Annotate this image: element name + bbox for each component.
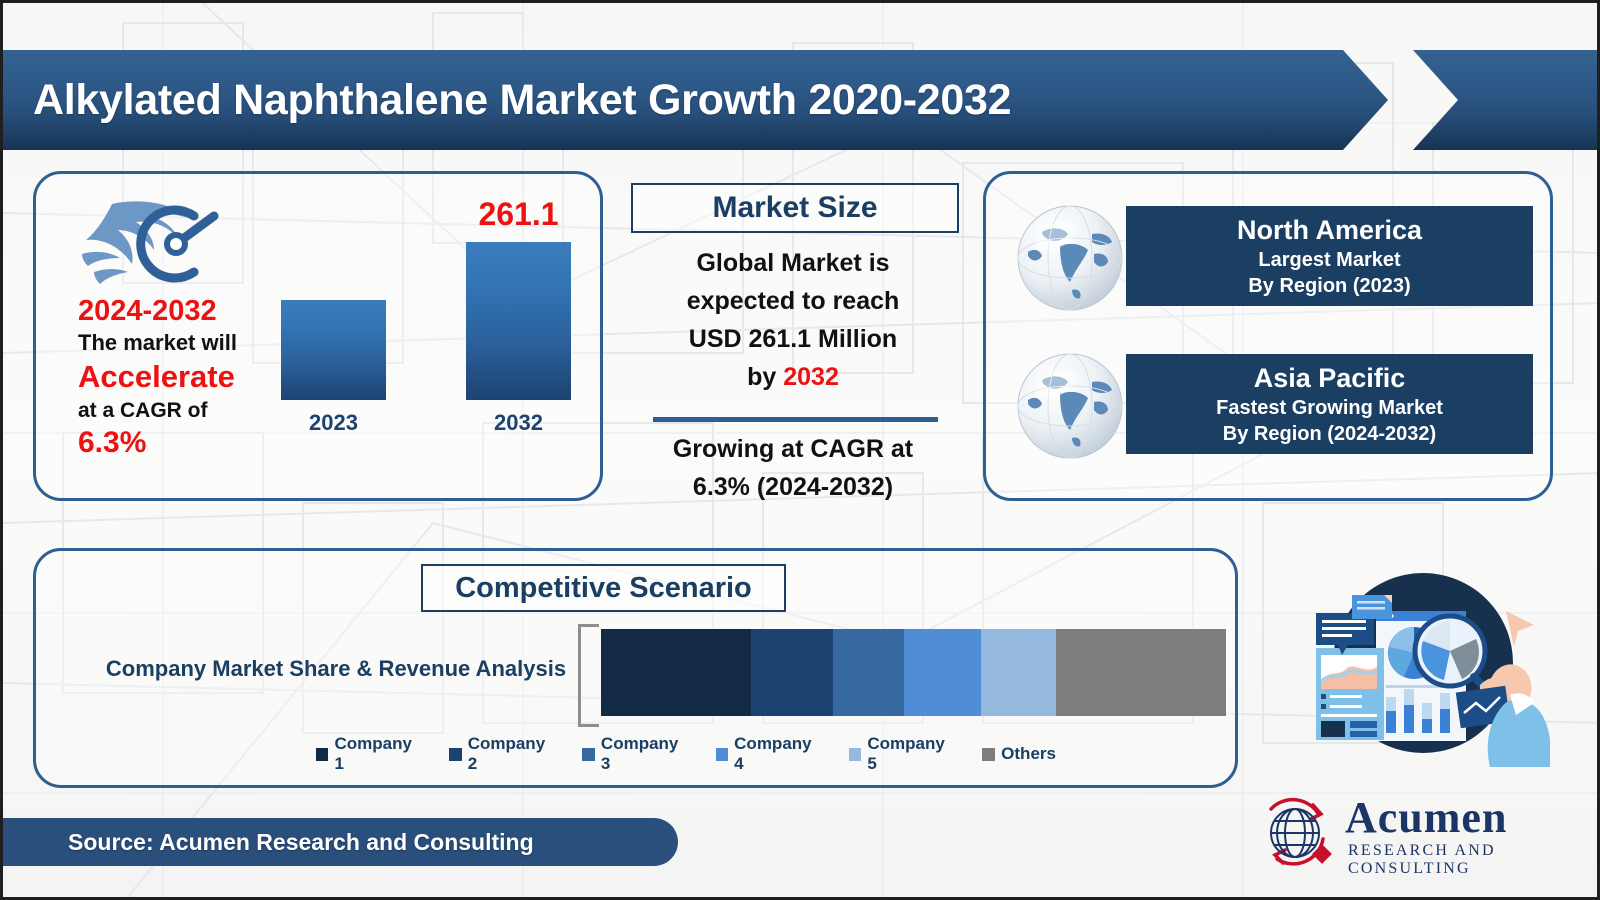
source-text: Source: Acumen Research and Consulting [68,829,534,856]
region-name: Asia Pacific [1126,362,1533,395]
growth-card: 2024-2032 The market will Accelerate at … [33,171,603,501]
legend-swatch [449,748,461,761]
legend-label: Company 2 [468,734,556,774]
legend-item: Company 4 [716,734,822,774]
region-label-box: North America Largest Market By Region (… [1126,206,1533,306]
legend-swatch [582,748,594,761]
globe-icon [1008,198,1132,322]
competitive-heading-box: Competitive Scenario [421,564,786,612]
globe-icon [1008,346,1132,470]
market-size-bar-chart: 2023 261.1 2032 [261,204,591,484]
stack-segment-2 [751,629,833,716]
legend-item: Company 2 [449,734,555,774]
legend-swatch [849,748,861,761]
axis-bracket [578,624,599,727]
region-sub1: Fastest Growing Market [1126,395,1533,421]
logo-tagline: RESEARCH AND CONSULTING [1348,842,1573,878]
region-sub1: Largest Market [1126,247,1533,273]
legend-label: Others [1001,744,1056,764]
market-size-line1: Global Market is [623,244,963,282]
region-name: North America [1126,214,1533,247]
legend-item: Company 5 [849,734,955,774]
by-label: by [747,363,776,391]
infographic-page: Alkylated Naphthalene Market Growth 2020… [0,0,1600,900]
page-title: Alkylated Naphthalene Market Growth 2020… [33,50,1011,150]
legend-swatch [316,748,328,761]
legend-swatch [716,748,728,761]
legend-label: Company 4 [734,734,822,774]
region-sub2: By Region (2023) [1126,273,1533,299]
growing-value: 6.3% (2024-2032) [623,468,963,506]
title-banner: Alkylated Naphthalene Market Growth 2020… [3,50,1600,150]
market-size-heading-box: Market Size [631,183,959,233]
legend-label: Company 3 [601,734,689,774]
legend-item: Company 3 [582,734,688,774]
bar-value-2032: 261.1 [466,196,571,233]
region-row-north-america: North America Largest Market By Region (… [1008,206,1533,316]
speedometer-acceleration-icon [76,196,226,291]
legend-item: Others [982,744,1056,764]
by-year: 2032 [783,363,839,391]
region-sub2: By Region (2024-2032) [1126,421,1533,447]
market-share-stacked-bar [601,629,1226,716]
divider [653,417,938,422]
bar-label-2023: 2023 [281,410,386,436]
regions-card: North America Largest Market By Region (… [983,171,1553,501]
source-bar: Source: Acumen Research and Consulting [0,818,678,866]
market-size-by-line: by 2032 [623,358,963,396]
region-label-box: Asia Pacific Fastest Growing Market By R… [1126,354,1533,454]
stack-segment-5 [981,629,1056,716]
bar-2032 [466,242,571,400]
market-share-legend: Company 1Company 2Company 3Company 4Comp… [316,734,1056,774]
bar-label-2032: 2032 [466,410,571,436]
market-size-panel: Market Size Global Market is expected to… [623,178,963,498]
market-size-body: Global Market is expected to reach USD 2… [623,244,963,396]
stack-segment-6 [1056,629,1226,716]
legend-label: Company 1 [334,734,422,774]
bar-group-2032: 261.1 2032 [466,202,571,442]
legend-label: Company 5 [867,734,955,774]
acumen-logo: Acumen RESEARCH AND CONSULTING [1253,793,1573,873]
data-analysis-illustration [1258,563,1558,773]
cagr-block: Growing at CAGR at 6.3% (2024-2032) [623,430,963,506]
bar-2023 [281,300,386,400]
market-size-value: USD 261.1 Million [623,320,963,358]
stack-segment-3 [833,629,904,716]
competitive-scenario-card: Competitive Scenario Company Market Shar… [33,548,1238,788]
globe-logo-icon [1253,793,1341,873]
banner-arrow-tail [1401,50,1600,150]
bar-group-2023: 2023 [281,262,386,442]
market-share-axis-label: Company Market Share & Revenue Analysis [96,656,576,682]
market-size-line2: expected to reach [623,282,963,320]
stack-segment-1 [601,629,751,716]
region-row-asia-pacific: Asia Pacific Fastest Growing Market By R… [1008,354,1533,464]
growing-label: Growing at CAGR at [623,430,963,468]
stack-segment-4 [904,629,981,716]
competitive-heading: Competitive Scenario [455,572,752,605]
market-size-heading: Market Size [712,191,877,225]
legend-item: Company 1 [316,734,422,774]
legend-swatch [982,748,995,761]
logo-wordmark: Acumen [1345,795,1507,841]
